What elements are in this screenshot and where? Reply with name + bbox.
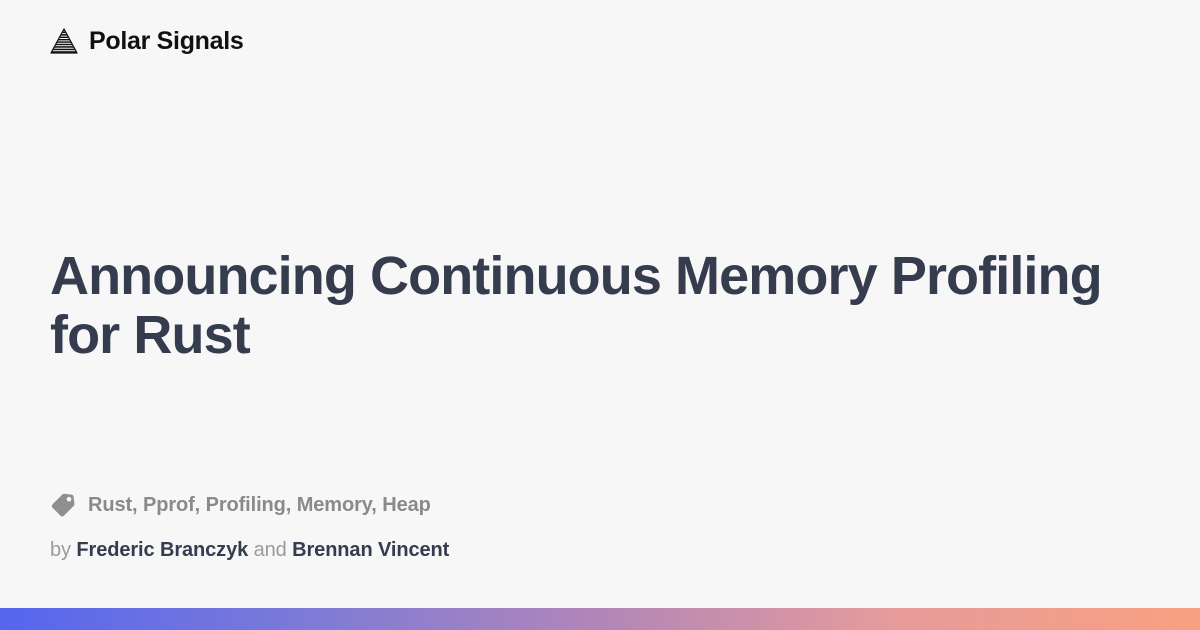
brand-name: Polar Signals [89,29,244,54]
tag-list: Rust, Pprof, Profiling, Memory, Heap [50,492,431,518]
byline: by Frederic Branczyk and Brennan Vincent [50,538,449,562]
byline-prefix: by [50,539,71,561]
blog-share-card: Polar Signals Announcing Continuous Memo… [0,0,1200,630]
byline-conjunction: and [254,539,287,561]
page-title: Announcing Continuous Memory Profiling f… [50,247,1140,365]
author-secondary[interactable]: Brennan Vincent [292,539,449,561]
tag-icon [50,492,76,518]
brand-logo[interactable]: Polar Signals [50,28,244,54]
author-primary[interactable]: Frederic Branczyk [76,539,248,561]
striped-triangle-logo-icon [50,28,78,54]
tag-list-label: Rust, Pprof, Profiling, Memory, Heap [88,495,431,515]
gradient-accent-bar [0,608,1200,630]
